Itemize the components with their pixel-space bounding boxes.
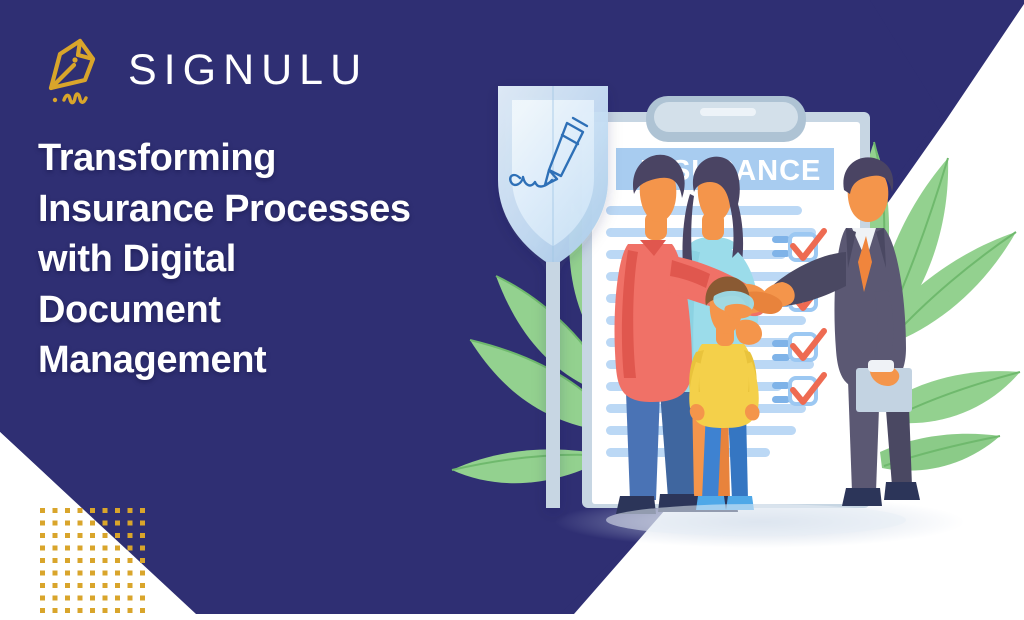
page-title: Transforming Insurance Processes with Di…	[38, 133, 508, 386]
headline-line-3: with Digital	[38, 234, 508, 285]
banner-canvas: INSURANCE	[0, 0, 1024, 620]
brand-wordmark: SIGNULU	[128, 49, 368, 92]
floor-highlight	[606, 504, 906, 536]
gold-dot-grid	[40, 508, 145, 613]
clipboard-clip	[646, 96, 806, 142]
headline-line-4: Document	[38, 285, 508, 336]
headline-line-2: Insurance Processes	[38, 184, 508, 235]
headline-line-1: Transforming	[38, 133, 508, 184]
brand-lockup: SIGNULU	[38, 34, 368, 106]
headline-line-5: Management	[38, 335, 508, 386]
pen-nib-signature-icon	[38, 34, 110, 106]
